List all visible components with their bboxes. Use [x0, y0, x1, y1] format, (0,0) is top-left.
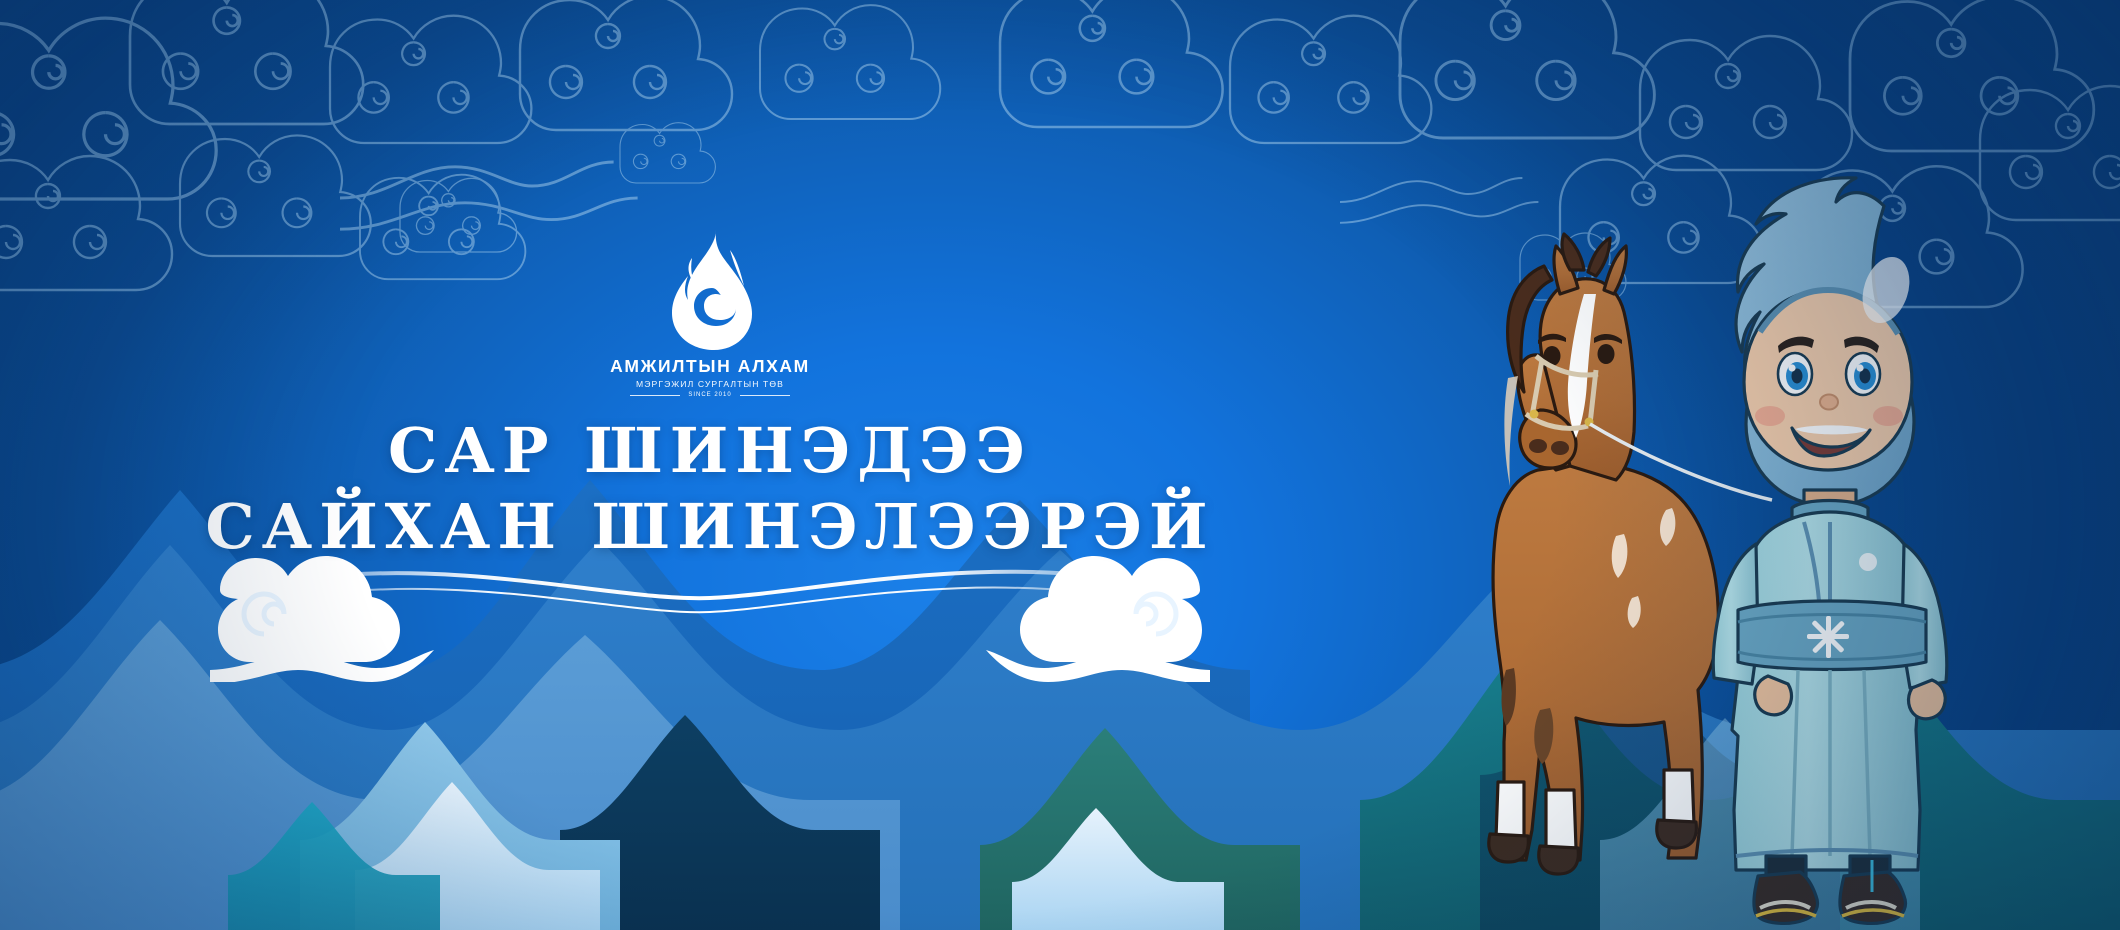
logo-since-row: SINCE 2010	[630, 392, 790, 398]
greeting-line-1: САР ШИНЭДЭЭ	[388, 420, 1032, 482]
flame-logo-icon	[662, 228, 758, 352]
characters-illustration	[1420, 170, 2120, 930]
logo-company-name: АМЖИЛТЫН АЛХАМ	[610, 358, 810, 376]
brown-horse	[1489, 234, 1772, 874]
greeting-title: САР ШИНЭДЭЭ САЙХАН ШИНЭЛЭЭРЭЙ	[210, 420, 1210, 558]
new-year-greeting-banner: АМЖИЛТЫН АЛХАМ МЭРГЭЖИЛ СУРГАЛТЫН ТӨВ SI…	[0, 0, 2120, 930]
greeting-line-2: САЙХАН ШИНЭЛЭЭРЭЙ	[205, 496, 1214, 558]
center-content: АМЖИЛТЫН АЛХАМ МЭРГЭЖИЛ СУРГАЛТЫН ТӨВ SI…	[0, 0, 1420, 930]
logo-since-text: SINCE 2010	[688, 392, 731, 398]
since-rule-right	[740, 395, 790, 396]
since-rule-left	[630, 395, 680, 396]
logo-subtitle: МЭРГЭЖИЛ СУРГАЛТЫН ТӨВ	[636, 380, 784, 389]
brand-logo: АМЖИЛТЫН АЛХАМ МЭРГЭЖИЛ СУРГАЛТЫН ТӨВ SI…	[610, 228, 810, 398]
flame-mascot-character	[1713, 178, 1947, 924]
